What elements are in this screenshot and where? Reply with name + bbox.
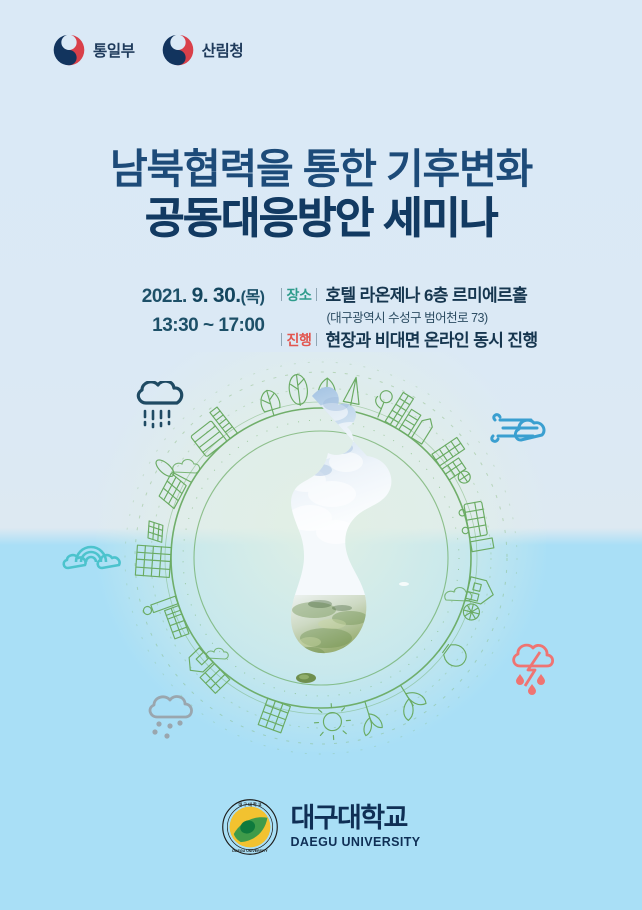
event-info: 2021. 9. 30.(목) 13:30 ~ 17:00 장소 호텔 라온제나… bbox=[0, 281, 642, 351]
korean-peninsula-map bbox=[254, 372, 434, 715]
title-line-1: 남북협력을 통한 기후변화 bbox=[0, 146, 642, 192]
korea-government-taegeuk-emblem bbox=[161, 33, 195, 67]
poster-root: 통일부 산림청 남북협력을 통한 기후변화 공동대응방안 세미나 2021. 9… bbox=[0, 0, 642, 910]
event-month: 9. bbox=[192, 284, 209, 307]
thunderstorm-icon bbox=[508, 640, 558, 695]
place-tag: 장소 bbox=[281, 285, 318, 305]
snow-cloud-icon bbox=[143, 695, 199, 741]
rainbow-cloud-icon bbox=[60, 534, 122, 574]
gov-logo-label: 산림청 bbox=[202, 39, 244, 61]
event-day: 30. bbox=[213, 284, 241, 307]
university-footer: 대 구 대 학 교 DAEGU UNIVERSITY 대구대학교 DAEGU U… bbox=[0, 798, 642, 856]
tag-bar-left bbox=[281, 333, 282, 346]
poster-title: 남북협력을 통한 기후변화 공동대응방안 세미나 bbox=[0, 146, 642, 245]
event-dayofweek: (목) bbox=[241, 289, 265, 306]
place-value: 호텔 라온제나 6층 르미에르홀 bbox=[325, 281, 527, 306]
university-name-block: 대구대학교 DAEGU UNIVERSITY bbox=[290, 805, 420, 849]
title-line-2: 공동대응방안 세미나 bbox=[0, 195, 642, 244]
svg-text:DAEGU UNIVERSITY: DAEGU UNIVERSITY bbox=[233, 849, 269, 853]
place-address: (대구광역시 수성구 범어천로 73) bbox=[327, 307, 538, 326]
event-datetime: 2021. 9. 30.(목) 13:30 ~ 17:00 bbox=[105, 281, 279, 340]
tag-bar-left bbox=[281, 288, 282, 301]
mode-row: 진행 현장과 비대면 온라인 동시 진행 bbox=[281, 326, 538, 351]
university-name-korean: 대구대학교 bbox=[290, 805, 420, 832]
svg-text:대 구 대 학 교: 대 구 대 학 교 bbox=[239, 801, 262, 807]
gov-logo-forest-service: 산림청 bbox=[161, 33, 244, 67]
university-name-english: DAEGU UNIVERSITY bbox=[290, 836, 420, 849]
korea-government-taegeuk-emblem bbox=[52, 33, 86, 67]
rain-cloud-icon bbox=[133, 381, 189, 439]
event-year: 2021. bbox=[142, 286, 187, 307]
government-logos: 통일부 산림청 bbox=[52, 33, 243, 67]
tag-bar-right bbox=[316, 288, 317, 301]
mode-tag-label: 진행 bbox=[287, 330, 312, 350]
mode-tag: 진행 bbox=[281, 330, 318, 350]
tag-bar-right bbox=[316, 333, 317, 346]
place-tag-label: 장소 bbox=[287, 285, 312, 305]
gov-logo-label: 통일부 bbox=[93, 39, 135, 61]
wind-cloud-icon bbox=[487, 408, 549, 450]
place-row: 장소 호텔 라온제나 6층 르미에르홀 bbox=[281, 281, 538, 306]
gov-logo-unification: 통일부 bbox=[52, 33, 135, 67]
event-location-block: 장소 호텔 라온제나 6층 르미에르홀 (대구광역시 수성구 범어천로 73) … bbox=[279, 281, 538, 351]
daegu-university-seal: 대 구 대 학 교 DAEGU UNIVERSITY bbox=[221, 798, 279, 856]
mode-value: 현장과 비대면 온라인 동시 진행 bbox=[325, 326, 537, 351]
event-time: 13:30 ~ 17:00 bbox=[105, 313, 265, 340]
